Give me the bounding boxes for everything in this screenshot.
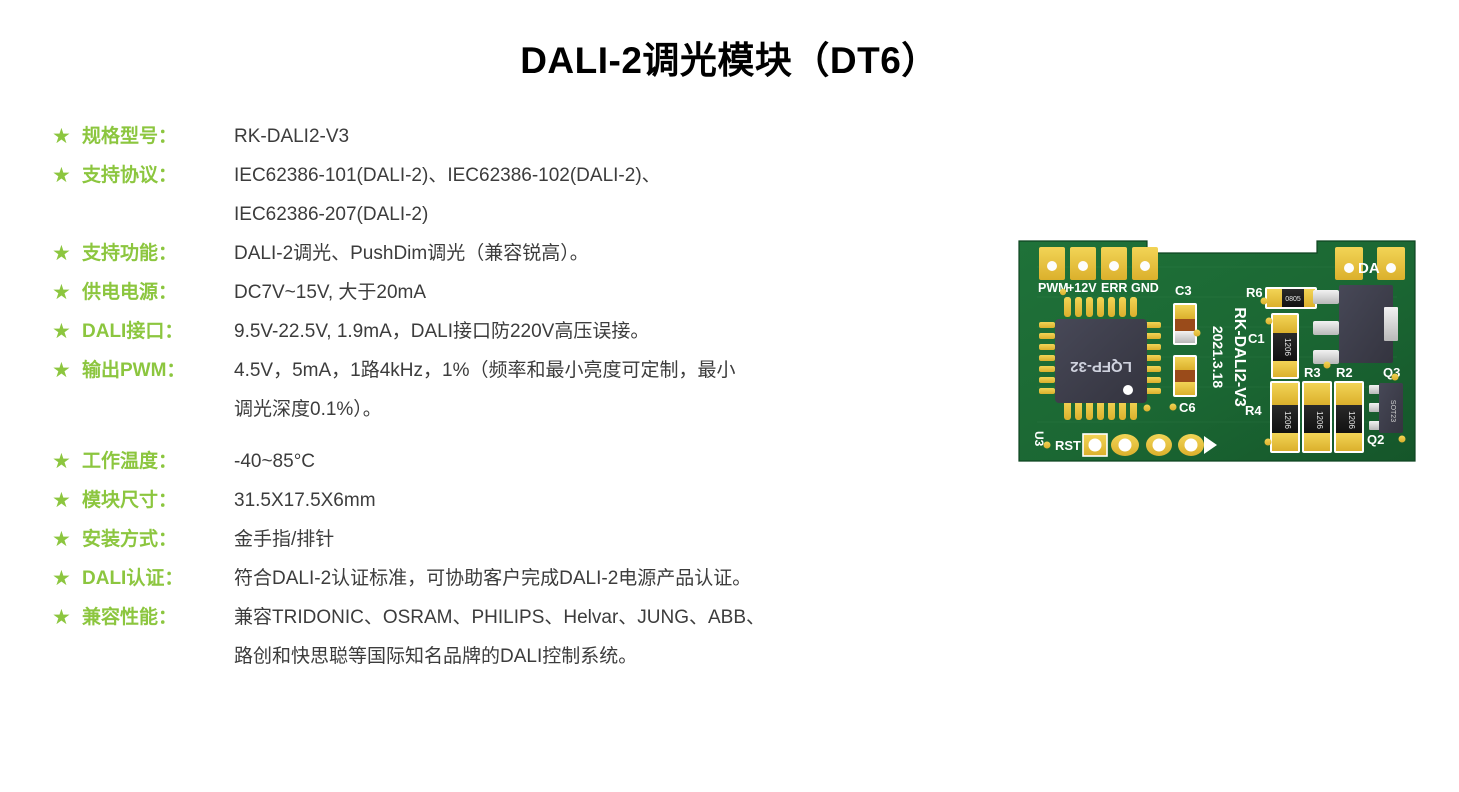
pcb-label-da: DA xyxy=(1358,260,1380,277)
star-icon: ★ xyxy=(52,486,82,514)
pcb-designator-r4: R4 xyxy=(1245,403,1262,418)
pcb-component-r6: 0805 xyxy=(1261,287,1318,309)
star-icon: ★ xyxy=(52,239,82,267)
spec-value-power-supply: DC7V~15V, 大于20mA xyxy=(234,278,1012,308)
pcb-silkscreen-part-number: RK-DALI2-V3 xyxy=(1231,307,1248,407)
star-icon: ★ xyxy=(52,447,82,475)
star-icon: ★ xyxy=(52,161,82,189)
pcb-code-r2: 1206 xyxy=(1347,411,1356,429)
pcb-designator-r3: R3 xyxy=(1304,365,1321,380)
spec-row-output-pwm: ★ 输出PWM： 4.5V，5mA，1路4kHz，1%（频率和最小亮度可定制，最… xyxy=(52,356,1012,425)
spec-value-dali-interface: 9.5V-22.5V, 1.9mA，DALI接口防220V高压误接。 xyxy=(234,317,1012,347)
pcb-code-r4: 1206 xyxy=(1283,411,1292,429)
spec-value-line: 调光深度0.1%）。 xyxy=(234,395,1012,425)
spec-value-line: 4.5V，5mA，1路4kHz，1%（频率和最小亮度可定制，最小 xyxy=(234,356,1012,386)
pcb-label-err: ERR xyxy=(1101,281,1127,295)
spec-value-line: DALI-2调光、PushDim调光（兼容锐高）。 xyxy=(234,239,1012,269)
pcb-component-r2: 1206 xyxy=(1334,381,1364,453)
spec-value-functions: DALI-2调光、PushDim调光（兼容锐高）。 xyxy=(234,239,1012,269)
spec-value-dimensions: 31.5X17.5X6mm xyxy=(234,486,1012,516)
star-icon: ★ xyxy=(52,603,82,631)
spec-value-protocols: IEC62386-101(DALI-2)、IEC62386-102(DALI-2… xyxy=(234,161,1012,230)
spec-label-model: 规格型号： xyxy=(82,122,234,152)
pcb-component-q3 xyxy=(1339,285,1398,363)
spec-value-operating-temperature: -40~85°C xyxy=(234,447,1012,477)
spec-row-protocols: ★ 支持协议： IEC62386-101(DALI-2)、IEC62386-10… xyxy=(52,161,1012,230)
spec-value-line: IEC62386-207(DALI-2) xyxy=(234,200,1012,230)
pcb-label-12v: +12V xyxy=(1067,281,1097,295)
pcb-component-c3 xyxy=(1173,303,1201,345)
star-icon: ★ xyxy=(52,356,82,384)
spec-value-output-pwm: 4.5V，5mA，1路4kHz，1%（频率和最小亮度可定制，最小 调光深度0.1… xyxy=(234,356,1012,425)
pcb-code-r3: 1206 xyxy=(1315,411,1324,429)
spec-value-line: -40~85°C xyxy=(234,447,1012,477)
spec-row-operating-temperature: ★ 工作温度： -40~85°C xyxy=(52,447,1012,477)
pcb-designator-c1: C1 xyxy=(1248,331,1265,346)
star-icon: ★ xyxy=(52,317,82,345)
star-icon: ★ xyxy=(52,278,82,306)
spec-label-dali-certification: DALI认证： xyxy=(82,564,234,594)
spec-label-functions: 支持功能： xyxy=(82,239,234,269)
pcb-code-q2: SOT23 xyxy=(1389,400,1396,422)
page-title: DALI-2调光模块（DT6） xyxy=(0,30,1459,84)
pcb-connector-pads xyxy=(1313,290,1339,369)
spec-label-dali-interface: DALI接口： xyxy=(82,317,234,347)
pcb-designator-c6: C6 xyxy=(1179,400,1196,415)
pcb-component-r3: 1206 xyxy=(1302,381,1332,453)
pcb-illustration: PWM +12V ERR GND DA xyxy=(1017,237,1417,465)
spec-value-model: RK-DALI2-V3 xyxy=(234,122,1012,152)
spec-label-operating-temperature: 工作温度： xyxy=(82,447,234,477)
spec-value-line: DC7V~15V, 大于20mA xyxy=(234,278,1012,308)
spec-value-line: 符合DALI-2认证标准，可协助客户完成DALI-2电源产品认证。 xyxy=(234,564,1012,594)
pcb-designator-c3: C3 xyxy=(1175,283,1192,298)
spec-row-power-supply: ★ 供电电源： DC7V~15V, 大于20mA xyxy=(52,278,1012,308)
spec-label-dimensions: 模块尺寸： xyxy=(82,486,234,516)
product-image-pcb: PWM +12V ERR GND DA xyxy=(1017,237,1417,465)
spec-row-dali-certification: ★ DALI认证： 符合DALI-2认证标准，可协助客户完成DALI-2电源产品… xyxy=(52,564,1012,594)
spec-label-power-supply: 供电电源： xyxy=(82,278,234,308)
spec-row-model: ★ 规格型号： RK-DALI2-V3 xyxy=(52,122,1012,152)
spec-value-line: 31.5X17.5X6mm xyxy=(234,486,1012,516)
star-icon: ★ xyxy=(52,564,82,592)
spec-label-mounting: 安装方式： xyxy=(82,525,234,555)
pcb-label-gnd: GND xyxy=(1131,281,1159,295)
spec-value-line: 兼容TRIDONIC、OSRAM、PHILIPS、Helvar、JUNG、ABB… xyxy=(234,603,1012,633)
star-icon: ★ xyxy=(52,525,82,553)
pcb-designator-r6: R6 xyxy=(1246,285,1263,300)
pcb-code-c1: 1206 xyxy=(1283,338,1292,356)
pcb-silkscreen-date: 2021.3.18 xyxy=(1210,326,1226,388)
pcb-code-r6: 0805 xyxy=(1285,296,1301,303)
spec-value-line: 路创和快思聪等国际知名品牌的DALI控制系统。 xyxy=(234,642,1012,672)
spec-row-functions: ★ 支持功能： DALI-2调光、PushDim调光（兼容锐高）。 xyxy=(52,239,1012,269)
spec-row-compatibility: ★ 兼容性能： 兼容TRIDONIC、OSRAM、PHILIPS、Helvar、… xyxy=(52,603,1012,672)
pcb-designator-rst: RST xyxy=(1055,438,1081,453)
spec-value-dali-certification: 符合DALI-2认证标准，可协助客户完成DALI-2电源产品认证。 xyxy=(234,564,1012,594)
spec-label-protocols: 支持协议： xyxy=(82,161,234,191)
pcb-designator-q2: Q2 xyxy=(1367,432,1384,447)
specification-list: ★ 规格型号： RK-DALI2-V3 ★ 支持协议： IEC62386-101… xyxy=(52,122,1012,681)
spec-label-compatibility: 兼容性能： xyxy=(82,603,234,633)
pcb-designator-r2: R2 xyxy=(1336,365,1353,380)
spec-value-compatibility: 兼容TRIDONIC、OSRAM、PHILIPS、Helvar、JUNG、ABB… xyxy=(234,603,1012,672)
spec-value-line: 9.5V-22.5V, 1.9mA，DALI接口防220V高压误接。 xyxy=(234,317,1012,347)
spec-row-dimensions: ★ 模块尺寸： 31.5X17.5X6mm xyxy=(52,486,1012,516)
spec-value-line: 金手指/排针 xyxy=(234,525,1012,555)
spec-value-line: IEC62386-101(DALI-2)、IEC62386-102(DALI-2… xyxy=(234,161,1012,191)
star-icon: ★ xyxy=(52,122,82,150)
spec-row-dali-interface: ★ DALI接口： 9.5V-22.5V, 1.9mA，DALI接口防220V高… xyxy=(52,317,1012,347)
spec-value-mounting: 金手指/排针 xyxy=(234,525,1012,555)
pcb-ic-label: LQFP-32 xyxy=(1070,358,1132,375)
spec-row-mounting: ★ 安装方式： 金手指/排针 xyxy=(52,525,1012,555)
spec-label-output-pwm: 输出PWM： xyxy=(82,356,234,386)
spec-value-line: RK-DALI2-V3 xyxy=(234,122,1012,152)
